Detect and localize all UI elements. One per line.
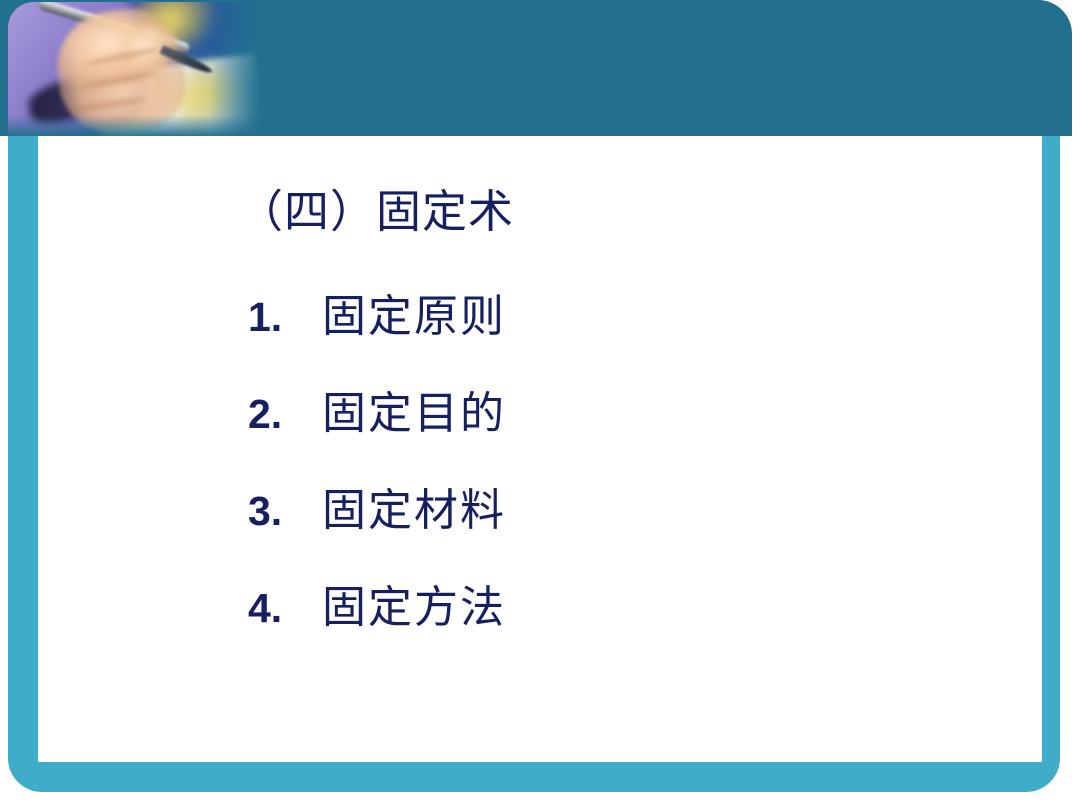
list-item-number: 4. bbox=[248, 585, 312, 632]
photo-bottom-fade bbox=[8, 115, 260, 136]
list-item: 4. 固定方法 bbox=[248, 571, 948, 668]
slide-body: （四）固定术 1. 固定原则 2. 固定目的 3. 固定材料 4. 固定方法 bbox=[40, 140, 1040, 760]
list-item-label: 固定原则 bbox=[322, 280, 506, 344]
hand-writing-with-pen-photo bbox=[8, 2, 260, 136]
slide-title: （四）固定术 bbox=[238, 188, 514, 238]
list-item-number: 1. bbox=[248, 294, 312, 341]
list-item-label: 固定材料 bbox=[322, 474, 506, 538]
list-item-label: 固定目的 bbox=[322, 377, 506, 441]
list-item-label: 固定方法 bbox=[322, 571, 506, 635]
list-item-number: 2. bbox=[248, 391, 312, 438]
numbered-list: 1. 固定原则 2. 固定目的 3. 固定材料 4. 固定方法 bbox=[248, 280, 948, 668]
list-item: 2. 固定目的 bbox=[248, 377, 948, 474]
list-item-number: 3. bbox=[248, 488, 312, 535]
list-item: 1. 固定原则 bbox=[248, 280, 948, 377]
list-item: 3. 固定材料 bbox=[248, 474, 948, 571]
presentation-slide: （四）固定术 1. 固定原则 2. 固定目的 3. 固定材料 4. 固定方法 bbox=[0, 0, 1080, 810]
